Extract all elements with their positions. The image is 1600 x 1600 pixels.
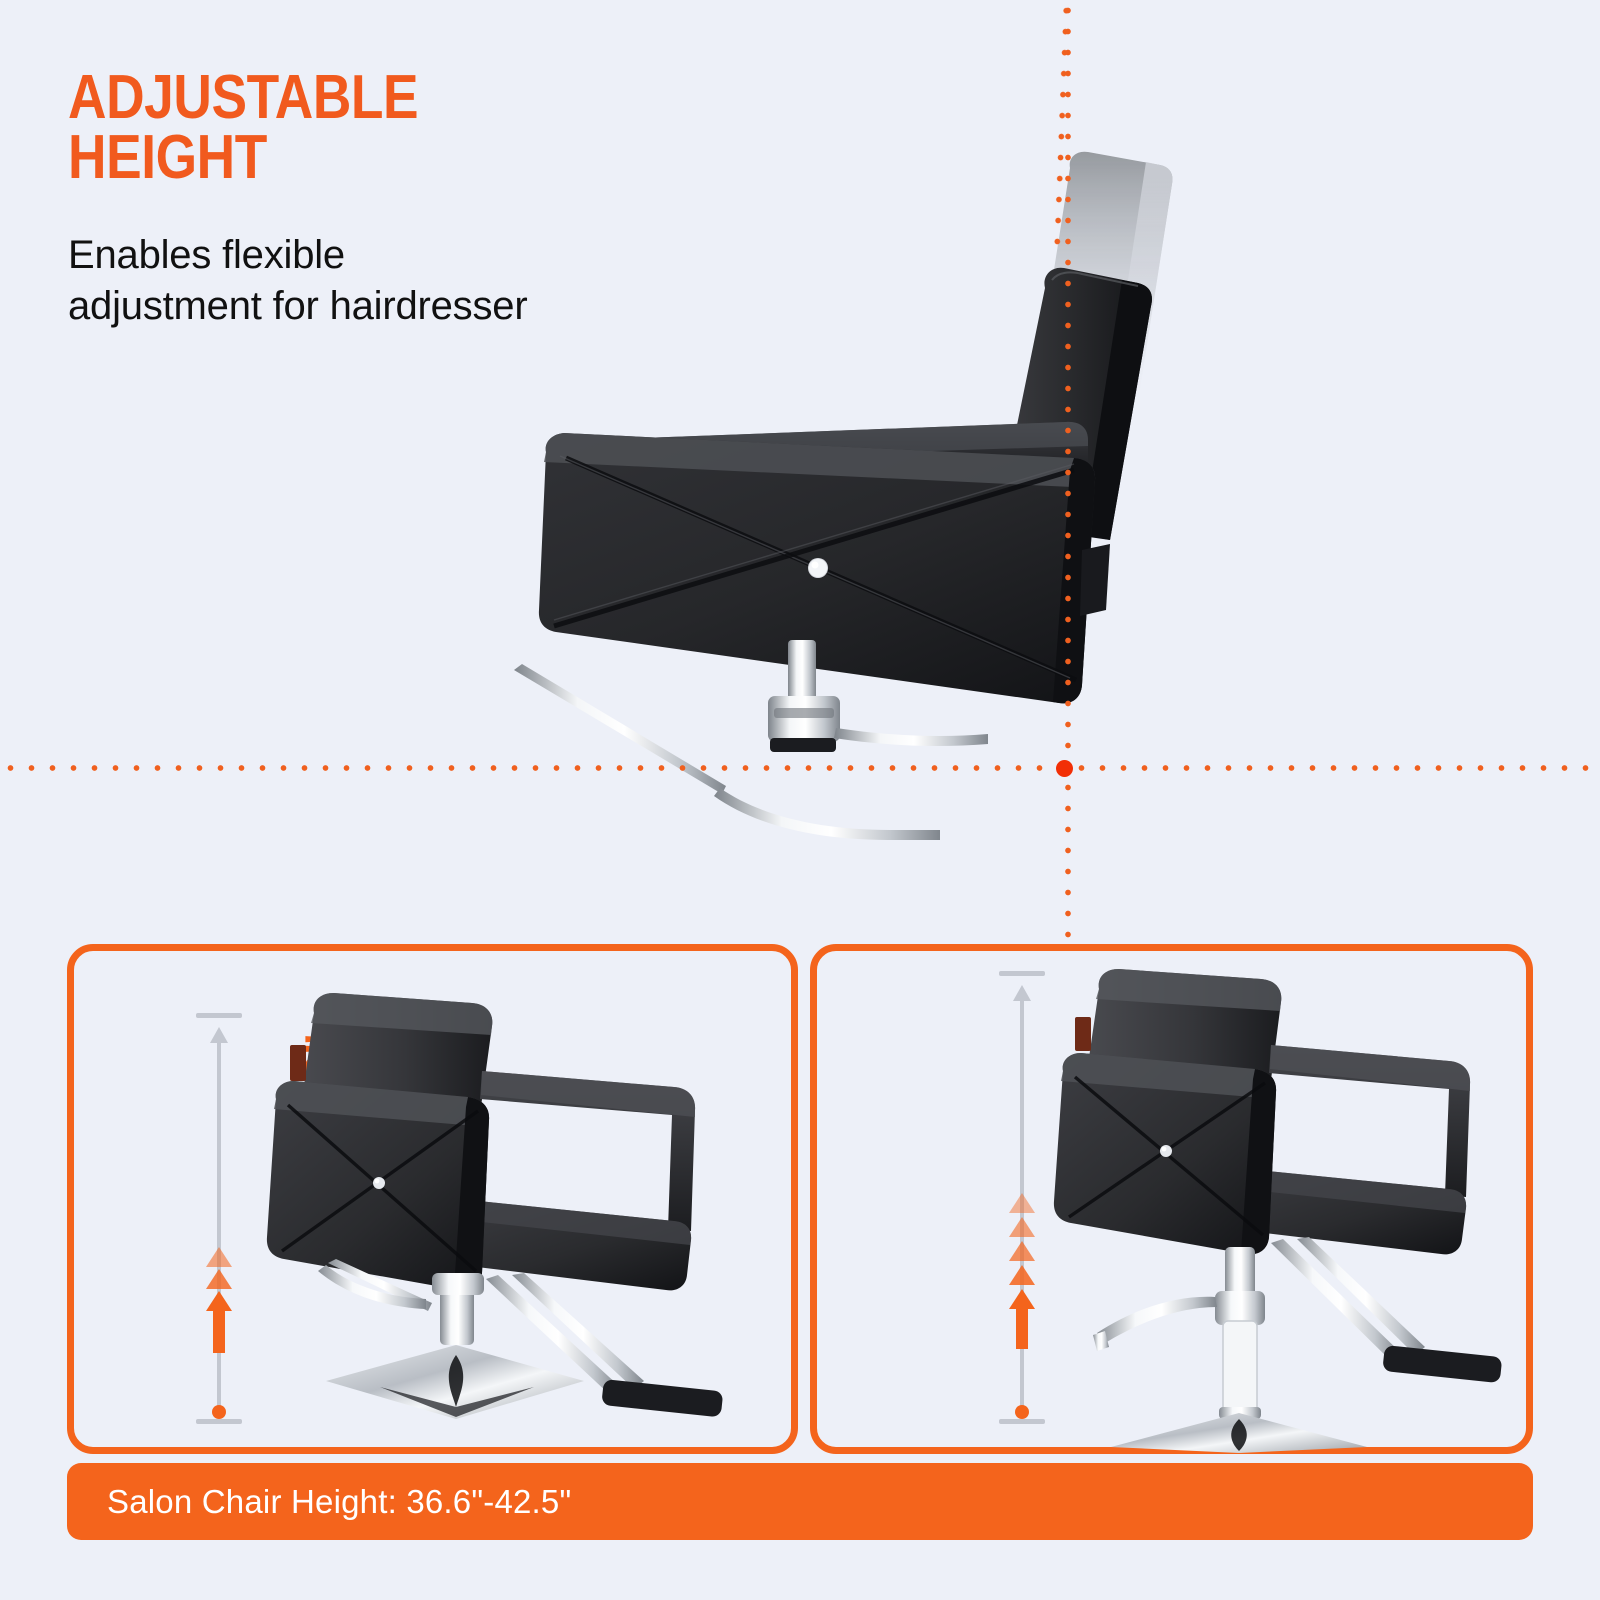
ruler-chevron — [206, 1247, 232, 1267]
ruler-36: 36.6" — [189, 1013, 249, 1423]
chair-raised — [1049, 961, 1519, 1458]
ruler-chevron — [206, 1269, 232, 1289]
ruler-line — [217, 1039, 221, 1415]
ruler-chevron — [1009, 1193, 1035, 1213]
ruler-bottom-tick — [196, 1419, 242, 1424]
lever-arm — [834, 728, 988, 746]
comparison-frame: 36.6" — [67, 944, 1533, 1540]
ruler-bottom-tick — [999, 1419, 1045, 1424]
chair-lowered — [254, 983, 774, 1443]
ruler-chevron — [1009, 1241, 1035, 1261]
ruler-chevron — [1009, 1217, 1035, 1237]
horizontal-guide-line — [0, 763, 1600, 773]
hydraulic-cylinder — [788, 640, 816, 700]
ruler-bottom-dot — [212, 1405, 226, 1419]
armrest-side-panel — [539, 433, 1095, 703]
ruler-chevron — [1009, 1289, 1035, 1309]
seat-edge — [1080, 544, 1110, 616]
infographic-stage: ADJUSTABLE HEIGHT Enables flexible adjus… — [0, 0, 1600, 1600]
ruler-chevron — [206, 1291, 232, 1311]
hero-chair-side-view — [470, 140, 1190, 940]
panel-lowest-height: 36.6" — [67, 944, 798, 1454]
footbar-strut — [514, 664, 726, 794]
ruler-bottom-dot — [1015, 1405, 1029, 1419]
ruler-arrow-stem — [213, 1309, 225, 1353]
ruler-top-tick — [196, 1013, 242, 1018]
panel-highest-height: 42.5" — [810, 944, 1533, 1454]
height-range-text: Salon Chair Height: 36.6"-42.5" — [67, 1483, 571, 1521]
hero-chair-illustration — [470, 140, 1190, 940]
intersection-marker-dot — [1056, 760, 1073, 777]
ruler-42: 42.5" — [992, 971, 1052, 1423]
height-range-banner: Salon Chair Height: 36.6"-42.5" — [67, 1463, 1533, 1540]
pump-housing — [768, 696, 840, 742]
ruler-arrow-stem — [1016, 1307, 1028, 1349]
ruler-chevron — [1009, 1265, 1035, 1285]
ruler-top-tick — [999, 971, 1045, 976]
